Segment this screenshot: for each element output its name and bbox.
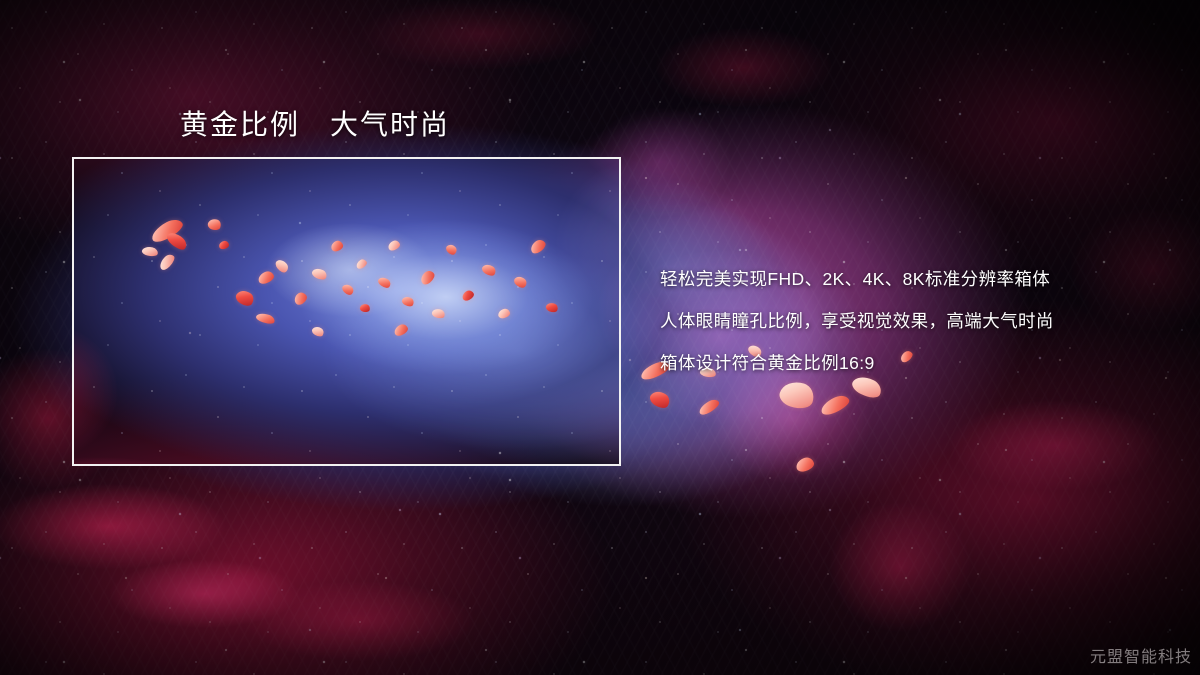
- flower-petal: [341, 282, 356, 297]
- flower-petal: [257, 270, 276, 286]
- flower-petal: [218, 240, 229, 250]
- flower-petal: [431, 307, 446, 320]
- company-watermark: 元盟智能科技: [1090, 643, 1192, 667]
- flower-petal: [545, 301, 559, 314]
- flower-petal: [418, 268, 437, 286]
- flower-petal: [461, 289, 476, 302]
- body-line-2: 人体眼睛瞳孔比例，享受视觉效果，高端大气时尚: [660, 300, 1160, 342]
- slide-body-copy: 轻松完美实现FHD、2K、4K、8K标准分辨率箱体 人体眼睛瞳孔比例，享受视觉效…: [660, 258, 1160, 384]
- flower-petal: [292, 290, 309, 306]
- flower-petal: [401, 295, 416, 309]
- flower-petal: [648, 388, 673, 412]
- panel-petal-field: [72, 157, 621, 466]
- flower-petal: [311, 325, 326, 339]
- flower-petal: [528, 237, 547, 255]
- slide-headline: 黄金比例 大气时尚: [180, 103, 450, 143]
- body-line-1: 轻松完美实现FHD、2K、4K、8K标准分辨率箱体: [660, 258, 1160, 300]
- flower-petal: [330, 239, 345, 252]
- flower-petal: [697, 397, 721, 417]
- flower-petal: [359, 303, 371, 313]
- flower-petal: [512, 274, 528, 290]
- flower-petal: [444, 242, 458, 256]
- flower-petal: [355, 258, 369, 270]
- flower-petal: [148, 216, 185, 245]
- flower-petal: [274, 257, 290, 274]
- inset-image-panel: [72, 157, 621, 466]
- flower-petal: [795, 456, 816, 473]
- flower-petal: [387, 239, 401, 252]
- flower-petal: [234, 287, 257, 309]
- flower-petal: [255, 311, 276, 325]
- flower-petal: [157, 252, 177, 272]
- flower-petal: [141, 245, 159, 257]
- flower-petal: [818, 393, 851, 418]
- flower-petal: [311, 266, 329, 282]
- flower-petal: [165, 229, 190, 252]
- body-line-3: 箱体设计符合黄金比例16:9: [660, 342, 1160, 384]
- flower-petal: [377, 275, 393, 290]
- flower-petal: [480, 262, 497, 278]
- flower-petal: [207, 217, 223, 232]
- flower-petal: [393, 323, 410, 338]
- presentation-slide: 黄金比例 大气时尚 轻松完美实现FHD、2K、4K、8K标准分辨率箱体 人体眼睛…: [0, 0, 1200, 675]
- flower-petal: [497, 308, 511, 320]
